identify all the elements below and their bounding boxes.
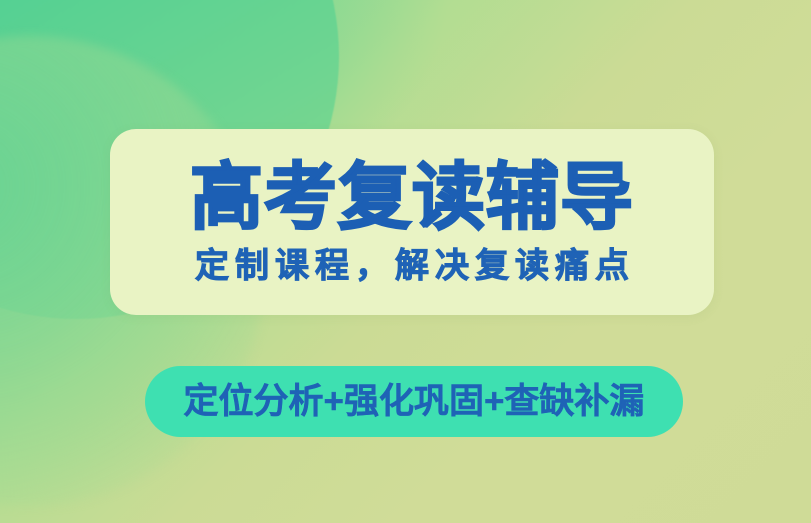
feature-pill-label: 定位分析+强化巩固+查缺补漏	[184, 384, 645, 419]
page-subtitle: 定制课程，解决复读痛点	[189, 249, 635, 283]
page-title: 高考复读辅导	[190, 161, 634, 234]
headline-card: 高考复读辅导 定制课程，解决复读痛点	[110, 129, 714, 315]
feature-pill: 定位分析+强化巩固+查缺补漏	[145, 366, 683, 437]
poster-canvas: 高考复读辅导 定制课程，解决复读痛点 定位分析+强化巩固+查缺补漏	[0, 0, 811, 523]
